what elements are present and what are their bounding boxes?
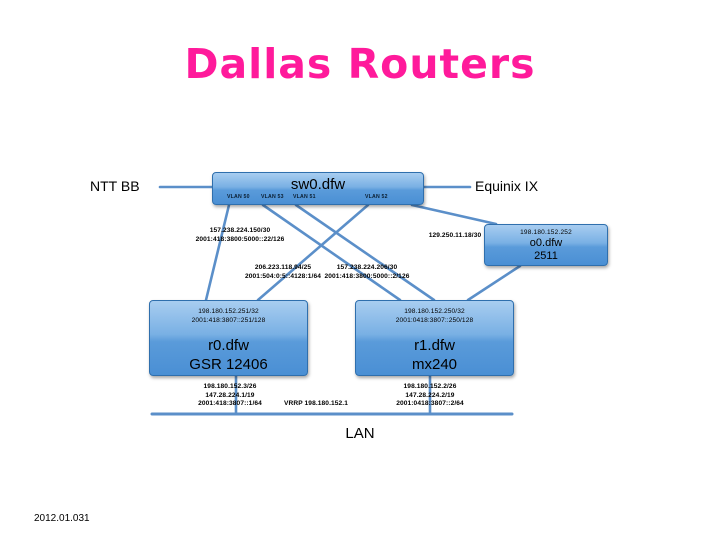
label-lan: LAN bbox=[0, 425, 720, 442]
annotation-lan-r1: 198.180.152.2/26 147.28.224.2/19 2001:04… bbox=[360, 383, 500, 409]
annotation-console-link-line1: 129.250.11.18/30 bbox=[400, 232, 510, 241]
footer-date: 2012.01.031 bbox=[34, 513, 90, 524]
label-ntt-bb: NTT BB bbox=[90, 178, 140, 194]
link-vlan51-to-r1 bbox=[296, 205, 434, 300]
label-equinix-ix: Equinix IX bbox=[475, 178, 538, 194]
annotation-vrrp-line1: VRRP 198.180.152.1 bbox=[256, 400, 376, 409]
annotation-ntt-uplink-line1: 157.238.224.150/30 bbox=[170, 227, 310, 236]
annotation-r1-uplink: 157.238.224.206/30 2001:418:3800:5000::2… bbox=[310, 264, 424, 281]
link-switch-to-console bbox=[412, 205, 496, 224]
r0-model: GSR 12406 bbox=[150, 355, 307, 374]
annotation-r1-uplink-line1: 157.238.224.206/30 bbox=[310, 264, 424, 273]
slide-canvas: Dallas Routers NTT B bbox=[0, 0, 720, 540]
link-vlan50-to-r0 bbox=[206, 205, 229, 300]
r1-name: r1.dfw bbox=[356, 325, 513, 355]
annotation-r1-uplink-line2: 2001:418:3800:5000::2/126 bbox=[310, 273, 424, 282]
annotation-ntt-uplink: 157.238.224.150/30 2001:418:3800:5000::2… bbox=[170, 227, 310, 244]
annotation-vrrp: VRRP 198.180.152.1 bbox=[256, 400, 376, 409]
sw0-name: sw0.dfw bbox=[213, 173, 423, 196]
vlan-label-50: VLAN 50 bbox=[227, 194, 250, 200]
r0-ipv4: 198.180.152.251/32 bbox=[150, 301, 307, 316]
annotation-console-link: 129.250.11.18/30 bbox=[400, 232, 510, 241]
r0-ipv6: 2001:418:3807::251/128 bbox=[150, 316, 307, 325]
link-vlan52-to-r0 bbox=[258, 205, 368, 300]
annotation-lan-r0-line2: 147.28.224.1/19 bbox=[140, 392, 320, 401]
node-r0-dfw[interactable]: 198.180.152.251/32 2001:418:3807::251/12… bbox=[149, 300, 308, 376]
vlan-label-52: VLAN 52 bbox=[365, 194, 388, 200]
r1-model: mx240 bbox=[356, 355, 513, 374]
r1-ipv4: 198.180.152.250/32 bbox=[356, 301, 513, 316]
vlan-label-53: VLAN 53 bbox=[261, 194, 284, 200]
node-r1-dfw[interactable]: 198.180.152.250/32 2001:0418:3807::250/1… bbox=[355, 300, 514, 376]
annotation-lan-r1-line2: 147.28.224.2/19 bbox=[360, 392, 500, 401]
r1-ipv6: 2001:0418:3807::250/128 bbox=[356, 316, 513, 325]
link-vlan53-to-r1 bbox=[263, 205, 400, 300]
vlan-label-51: VLAN 51 bbox=[293, 194, 316, 200]
o0-model: 2511 bbox=[485, 250, 607, 263]
r0-name: r0.dfw bbox=[150, 325, 307, 355]
sw0-vlan-row: VLAN 50 VLAN 53 VLAN 51 VLAN 52 bbox=[213, 194, 423, 203]
annotation-ntt-uplink-line2: 2001:418:3800:5000::22/126 bbox=[170, 236, 310, 245]
node-sw0-dfw[interactable]: sw0.dfw VLAN 50 VLAN 53 VLAN 51 VLAN 52 bbox=[212, 172, 424, 205]
link-console-to-r1 bbox=[468, 266, 520, 300]
annotation-lan-r0-line1: 198.180.152.3/26 bbox=[140, 383, 320, 392]
annotation-lan-r1-line3: 2001:0418:3807::2/64 bbox=[360, 400, 500, 409]
annotation-lan-r1-line1: 198.180.152.2/26 bbox=[360, 383, 500, 392]
node-o0-dfw[interactable]: 198.180.152.252 o0.dfw 2511 bbox=[484, 224, 608, 266]
